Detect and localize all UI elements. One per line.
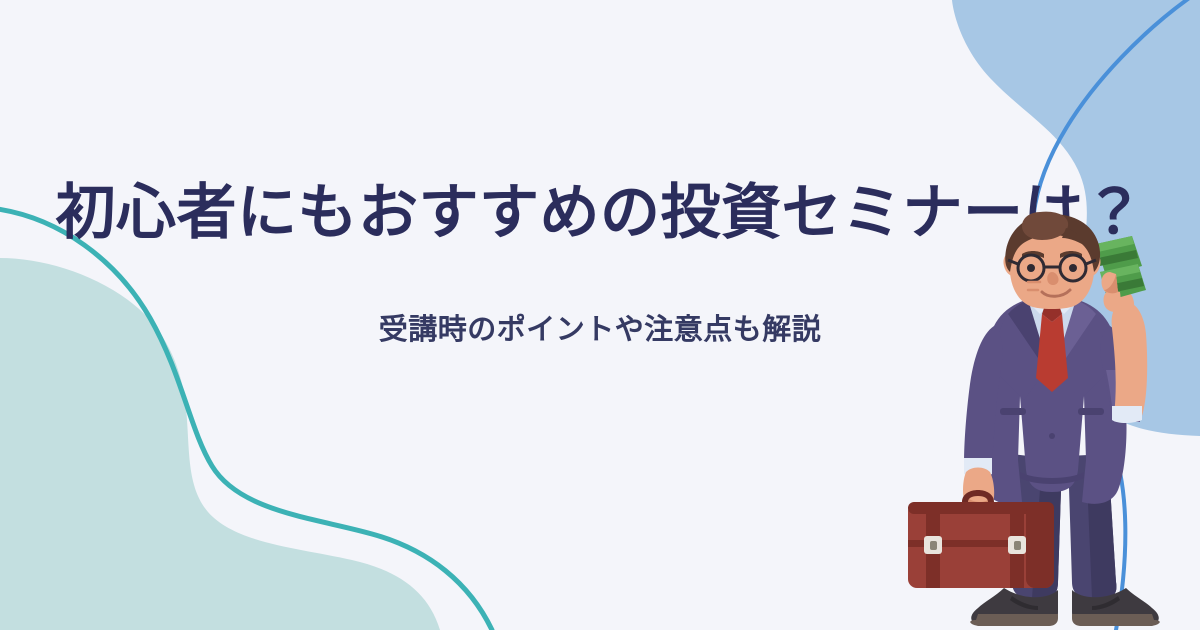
jacket-pocket-left	[1000, 408, 1026, 415]
businessman-illustration	[900, 210, 1200, 630]
head	[1003, 212, 1100, 309]
money-icon	[1096, 236, 1146, 300]
hand-holding-money	[1096, 236, 1146, 319]
og-banner: 初心者にもおすすめの投資セミナーは？ 受講時のポイントや注意点も解説	[0, 0, 1200, 630]
suit-jacket	[977, 290, 1126, 504]
briefcase-icon	[908, 490, 1054, 588]
shoes	[970, 588, 1160, 626]
jacket-pocket-right	[1078, 408, 1104, 415]
